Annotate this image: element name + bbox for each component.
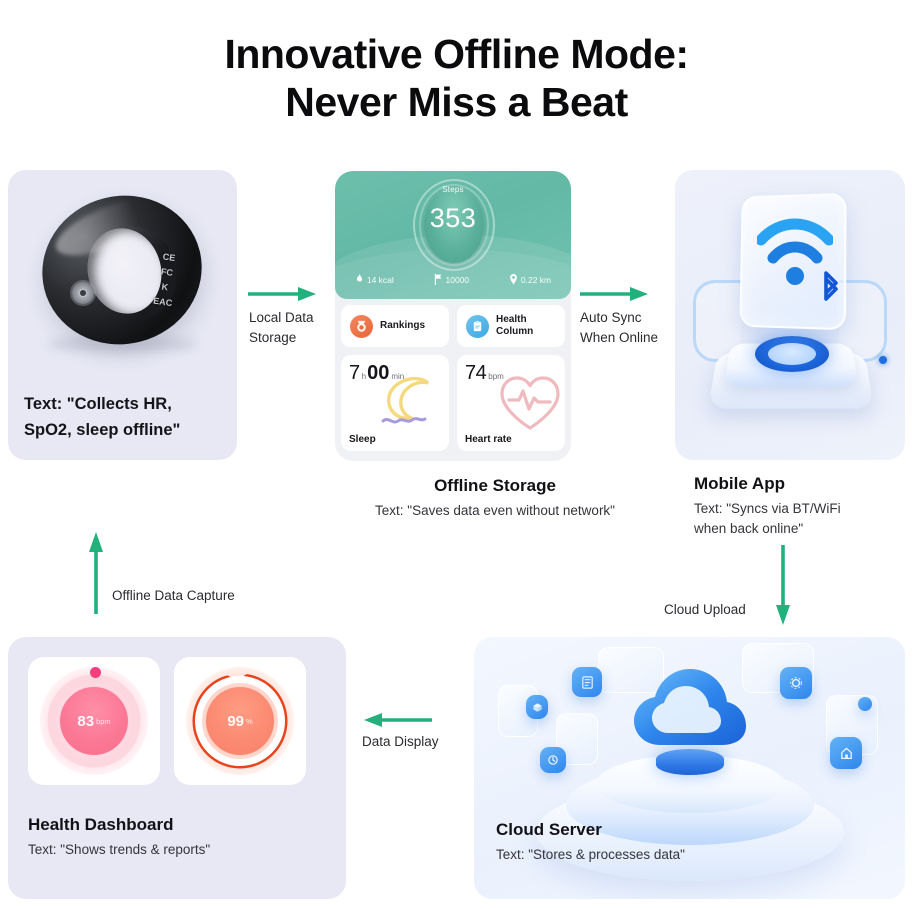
mobile-app-subtitle-line-2: when back online" — [694, 519, 904, 539]
title-line-2: Never Miss a Beat — [0, 78, 913, 126]
mobile-app-subtitle: Text: "Syncs via BT/WiFi when back onlin… — [694, 499, 904, 538]
card-rankings-label: Rankings — [380, 320, 425, 332]
stat-distance: 0.22 km — [509, 274, 551, 285]
arrow-data-display — [360, 712, 432, 728]
stat-goal: 10000 — [434, 274, 470, 285]
gear-tile-icon — [780, 667, 812, 699]
label-cloud-upload: Cloud Upload — [664, 600, 746, 620]
health-dashboard-caption: Health Dashboard Text: "Shows trends & r… — [28, 815, 328, 860]
health-dashboard-title: Health Dashboard — [28, 815, 328, 835]
heart-rate-value: 74 — [465, 362, 486, 385]
arrow-local-data-storage — [248, 286, 318, 302]
stat-calories: 14 kcal — [355, 274, 394, 285]
dot-tile-icon — [858, 697, 872, 711]
label-offline-data-capture: Offline Data Capture — [112, 586, 235, 606]
ring-caption-line-1: Text: "Collects HR, — [24, 392, 229, 418]
health-dashboard-subtitle: Text: "Shows trends & reports" — [28, 840, 328, 860]
home-tile-icon — [830, 737, 862, 769]
stat-calories-value: 14 kcal — [367, 275, 394, 285]
medal-icon — [350, 315, 373, 338]
arrow-auto-sync — [580, 286, 650, 302]
bluetooth-icon — [818, 270, 844, 308]
offline-storage-caption: Offline Storage Text: "Saves data even w… — [335, 476, 655, 521]
clipboard-icon — [466, 315, 489, 338]
app-card-grid: Rankings Health Column — [341, 305, 565, 451]
hr-core: 83 bpm — [60, 687, 128, 755]
clock-tile-icon — [540, 747, 566, 773]
health-dashboard-panel[interactable]: 83 bpm 99 % Health Dashboard Text: "Show… — [8, 637, 346, 899]
health-column-line-1: Health — [496, 314, 533, 326]
card-health-column-label: Health Column — [496, 314, 533, 338]
hr-progress-dot — [90, 667, 101, 678]
flag-icon — [434, 274, 443, 285]
heart-rate-label: Heart rate — [465, 434, 512, 445]
page-title: Innovative Offline Mode: Never Miss a Be… — [0, 30, 913, 127]
cloud-server-title: Cloud Server — [496, 820, 876, 840]
mobile-app-subtitle-line-1: Text: "Syncs via BT/WiFi — [694, 499, 904, 519]
location-pin-icon — [509, 274, 518, 285]
label-local-data-storage: Local Data Storage — [249, 308, 339, 347]
heart-rate-gauge-card[interactable]: 83 bpm — [28, 657, 160, 785]
spo2-gauge: 99 % — [186, 667, 294, 775]
title-line-1: Innovative Offline Mode: — [224, 31, 688, 77]
steps-value: 353 — [335, 203, 571, 234]
infographic-canvas: Innovative Offline Mode: Never Miss a Be… — [0, 0, 913, 909]
cert-eac: EAC — [149, 293, 177, 311]
box-tile-icon — [526, 695, 548, 719]
cloud-icon — [622, 659, 762, 763]
spo2-unit: % — [246, 717, 253, 726]
spo2-core: 99 % — [206, 687, 274, 755]
ring-caption: Text: "Collects HR, SpO2, sleep offline" — [24, 392, 229, 443]
steps-label: Steps — [335, 185, 571, 194]
label-data-display: Data Display — [362, 732, 439, 752]
stat-goal-value: 10000 — [446, 275, 470, 285]
sleep-label: Sleep — [349, 434, 376, 445]
sleep-hours-unit: h — [362, 372, 366, 381]
offline-storage-title: Offline Storage — [335, 476, 655, 496]
app-metric-row: 7 h 00 min Sleep 74 bpm — [341, 355, 565, 451]
sleep-hours: 7 — [349, 362, 360, 385]
card-rankings[interactable]: Rankings — [341, 305, 449, 347]
label-local-data-storage-line-1: Local Data — [249, 308, 339, 328]
card-heart-rate[interactable]: 74 bpm Heart rate — [457, 355, 565, 451]
spo2-value: 99 — [227, 713, 244, 730]
heart-rate-gauge: 83 bpm — [40, 667, 148, 775]
offline-storage-panel[interactable]: Steps 353 14 kcal 10000 — [335, 171, 571, 461]
health-column-line-2: Column — [496, 326, 533, 338]
ring-caption-line-2: SpO2, sleep offline" — [24, 418, 229, 444]
hr-value: 83 — [77, 713, 94, 730]
label-data-display-text: Data Display — [362, 734, 439, 749]
hr-unit: bpm — [96, 717, 111, 726]
heart-pulse-icon — [497, 375, 563, 433]
offline-storage-subtitle: Text: "Saves data even without network" — [335, 501, 655, 521]
cloud-server-subtitle: Text: "Stores & processes data" — [496, 845, 876, 865]
label-offline-data-capture-text: Offline Data Capture — [112, 588, 235, 603]
mobile-app-title: Mobile App — [694, 474, 904, 494]
cloud-server-caption: Cloud Server Text: "Stores & processes d… — [496, 820, 876, 865]
smart-ring-image: CE FC K EAC — [8, 178, 237, 388]
app-shortcut-row: Rankings Health Column — [341, 305, 565, 347]
label-auto-sync: Auto Sync When Online — [580, 308, 680, 347]
label-local-data-storage-line-2: Storage — [249, 328, 339, 348]
mobile-app-caption: Mobile App Text: "Syncs via BT/WiFi when… — [694, 474, 904, 538]
mobile-app-panel[interactable] — [675, 170, 905, 460]
label-cloud-upload-text: Cloud Upload — [664, 602, 746, 617]
hero-stats-row: 14 kcal 10000 0.22 km — [335, 274, 571, 285]
app-hero-steps: Steps 353 14 kcal 10000 — [335, 171, 571, 299]
server-tile-icon — [572, 667, 602, 697]
ring-panel[interactable]: CE FC K EAC Text: "Collects HR, SpO2, sl… — [8, 170, 237, 460]
stat-distance-value: 0.22 km — [521, 275, 551, 285]
arrow-offline-data-capture — [88, 528, 104, 614]
moon-icon — [373, 377, 447, 433]
spo2-gauge-card[interactable]: 99 % — [174, 657, 306, 785]
card-sleep[interactable]: 7 h 00 min Sleep — [341, 355, 449, 451]
flame-icon — [355, 274, 364, 285]
arrow-cloud-upload — [775, 545, 791, 627]
ring-sensor-icon — [72, 282, 94, 304]
bracket-dot-right — [879, 356, 887, 364]
card-health-column[interactable]: Health Column — [457, 305, 565, 347]
label-auto-sync-line-1: Auto Sync — [580, 308, 680, 328]
pedestal-disc-inner — [768, 343, 816, 365]
label-auto-sync-line-2: When Online — [580, 328, 680, 348]
